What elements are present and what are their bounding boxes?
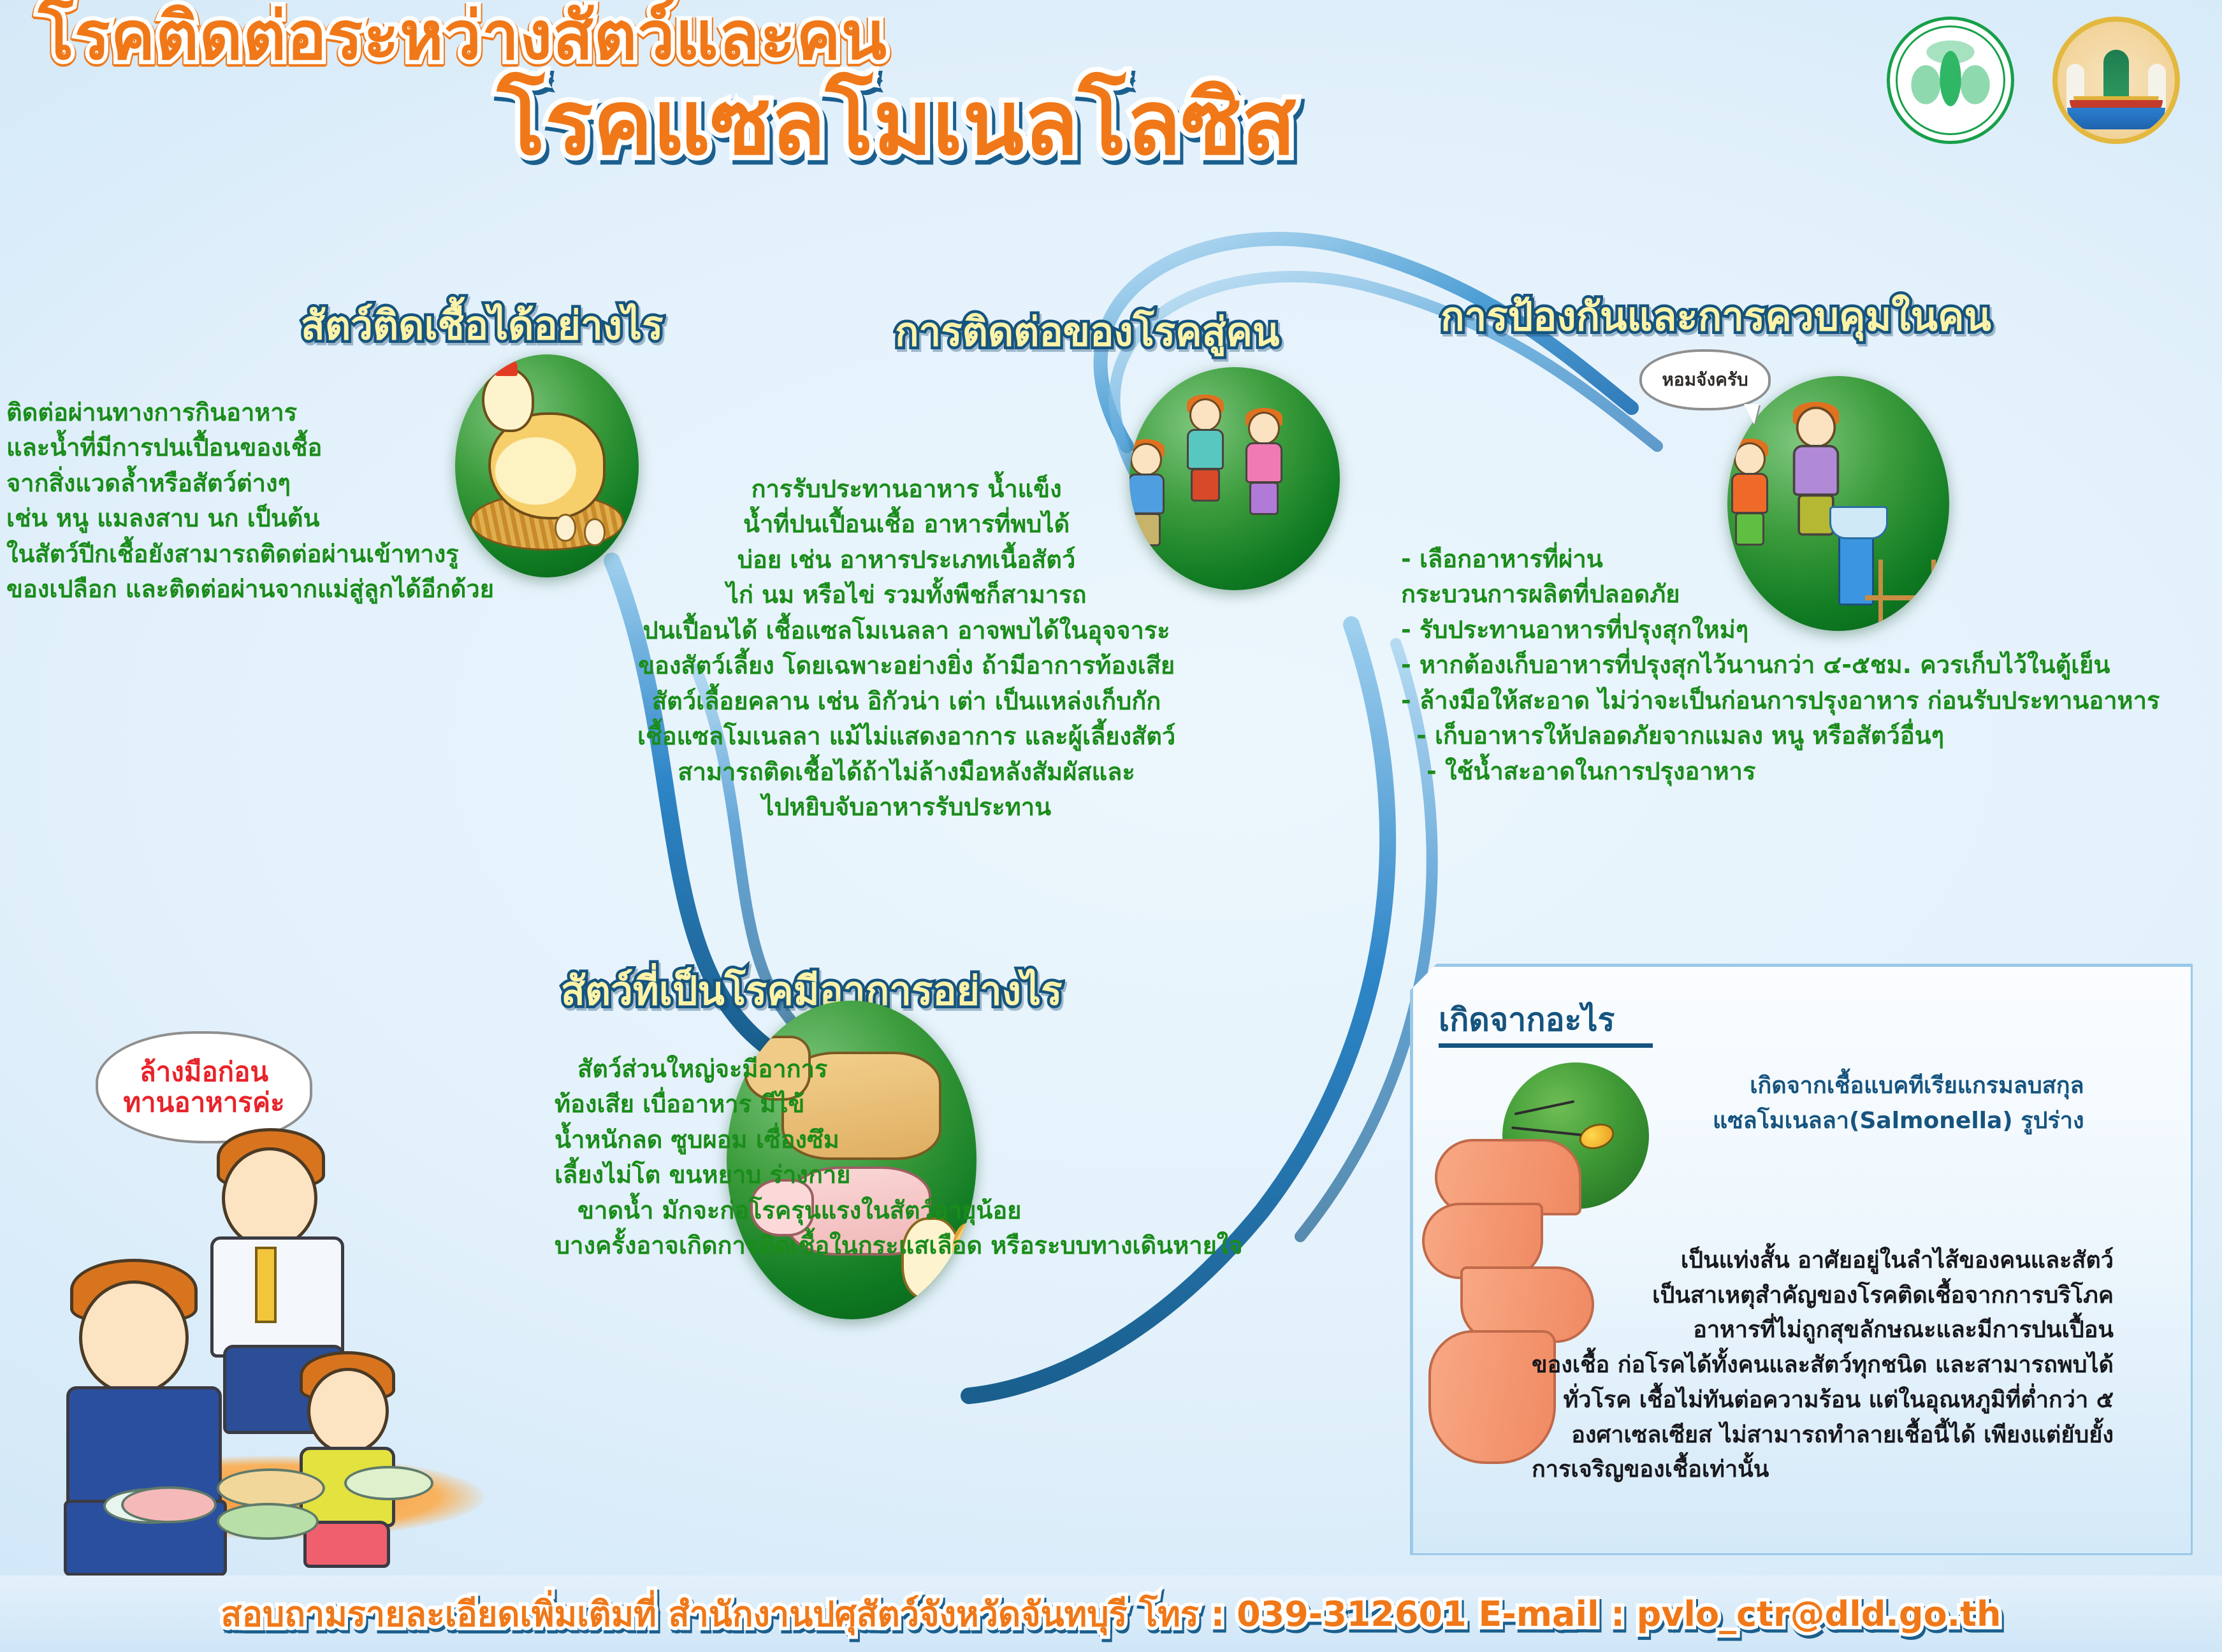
text-line: บ่อย เช่น อาหารประเภทเนื้อสัตว์ — [637, 542, 1175, 577]
speech-bubble-smells-good: หอมจังครับ — [1639, 349, 1771, 410]
text-line: ของเปลือก และติดต่อผ่านจากแม่สู่ลูกได้อี… — [6, 572, 494, 607]
food-plate-shape — [217, 1468, 325, 1508]
text-line: การรับประทานอาหาร น้ำแข็ง — [637, 472, 1175, 507]
food-plate-shape — [217, 1503, 319, 1540]
chanthaburi-province-seal-logo — [2052, 17, 2180, 144]
text-line: การเจริญของเชื้อเท่านั้น — [1532, 1453, 2114, 1488]
poster-root: โรคติดต่อระหว่างสัตว์และคน โรคแซลโมเนลโล… — [0, 0, 2222, 1652]
text-line: เป็นสาเหตุสำคัญของโรคติดเชื้อจากการบริโภ… — [1532, 1279, 2114, 1314]
text-line: น้ำหนักลด ซูบผอม เซื่องซึม — [555, 1122, 1243, 1157]
egg-shape — [555, 514, 576, 542]
text-line: เลี้ยงไม่โต ขนหยาบ ร่างกาย — [555, 1157, 1243, 1192]
text-line: ปนเปื้อนได้ เชื้อแซลโมเนลลา อาจพบได้ในอุ… — [637, 613, 1175, 648]
footer-contact-text: สอบถามรายละเอียดเพิ่มเติมที่ สำนักงานปศุ… — [221, 1586, 2001, 1641]
heading-human-transmission: การติดต่อของโรคสู่คน — [895, 301, 1279, 363]
text-line: - เก็บอาหารให้ปลอดภัยจากแมลง หนู หรือสัต… — [1401, 718, 2160, 753]
text-line: ขาดน้ำ มักจะก่อโรครุนแรงในสัตว์อายุน้อย — [555, 1193, 1243, 1228]
text-line: จากสิ่งแวดล้ำหรือสัตว์ต่างๆ — [6, 466, 494, 501]
food-plate-shape — [344, 1466, 433, 1500]
text-line: - ล้างมือให้สะอาด ไม่ว่าจะเป็นก่อนการปรุ… — [1401, 683, 2160, 718]
text-line: น้ำที่ปนเปื้อนเชื้อ อาหารที่พบได้ — [637, 507, 1175, 542]
text-line: เป็นแท่งสั้น อาศัยอยู่ในลำไส้ของคนและสัต… — [1532, 1243, 2114, 1279]
bubble-text-line: ล้างมือก่อน — [123, 1057, 284, 1087]
text-line: ติดต่อผ่านทางการกินอาหาร — [6, 395, 494, 430]
text-line: ของเชื้อ ก่อโรคได้ทั้งคนและสัตว์ทุกชนิด … — [1532, 1348, 2114, 1383]
text-line: ไปหยิบจับอาหารรับประทาน — [637, 790, 1175, 825]
text-line: อาหารที่ไม่ถูกสุขลักษณะและมีการปนเปื้อน — [1532, 1313, 2114, 1348]
egg-shape — [584, 518, 606, 546]
bubble-text-line: ทานอาหารค่ะ — [123, 1087, 284, 1118]
food-plate-shape — [121, 1486, 217, 1523]
text-line: แซลโมเนลลา(Salmonella) รูปร่าง — [1713, 1104, 2084, 1139]
page-title-line1: โรคติดต่อระหว่างสัตว์และคน — [0, 3, 1530, 69]
cooking-pot-shape — [1829, 506, 1888, 539]
text-line: สัตว์เลื้อยคลาน เช่น อิกัวน่า เต่า เป็นแ… — [637, 684, 1175, 719]
text-animal-symptoms: สัตว์ส่วนใหญ่จะมีอาการ ท้องเสีย เบื่ออาห… — [555, 1052, 1243, 1264]
family-eating-on-floor-illustration — [25, 1122, 535, 1561]
heading-prevention: การป้องกันและการควบคุมในคน — [1441, 286, 1991, 348]
text-line: - หากต้องเก็บอาหารที่ปรุงสุกไว้นานกว่า ๔… — [1401, 648, 2160, 683]
text-line: สามารถติดเชื้อได้ถ้าไม่ล้างมือหลังสัมผัส… — [637, 755, 1175, 790]
text-line: ทั่วโรค เชื้อไม่ทันต่อความร้อน แต่ในอุณห… — [1532, 1383, 2114, 1418]
text-line: - ใช้น้ำสะอาดในการปรุงอาหาร — [1401, 754, 2160, 789]
hen-shape — [488, 412, 606, 519]
cause-info-card: เกิดจากอะไร เกิดจากเชื้อแบคทีเรียแกรมลบส… — [1410, 964, 2194, 1556]
text-line: ไก่ นม หรือไข่ รวมทั้งพืชก็สามารถ — [637, 577, 1175, 612]
text-line: - เลือกอาหารที่ผ่าน — [1401, 542, 2160, 577]
logo-group — [1887, 17, 2180, 144]
footer-bar: สอบถามรายละเอียดเพิ่มเติมที่ สำนักงานปศุ… — [0, 1576, 2222, 1652]
text-line: ของสัตว์เลี้ยง โดยเฉพาะอย่างยิ่ง ถ้ามีอา… — [637, 648, 1175, 683]
heading-animal-infection: สัตว์ติดเชื้อได้อย่างไร — [301, 294, 664, 357]
card-lead-text: เกิดจากเชื้อแบคทีเรียแกรมลบสกุล แซลโมเนล… — [1713, 1069, 2084, 1138]
text-line: บางครั้งอาจเกิดการติดเชื้อในกระแสเลือด ห… — [555, 1228, 1243, 1263]
text-line: เชื้อแซลโมเนลลา แม้ไม่แสดงอาการ และผู้เล… — [637, 719, 1175, 754]
text-prevention: - เลือกอาหารที่ผ่าน กระบวนการผลิตที่ปลอด… — [1401, 542, 2160, 789]
card-body-text: เป็นแท่งสั้น อาศัยอยู่ในลำไส้ของคนและสัต… — [1532, 1177, 2114, 1488]
dld-green-seal-logo — [1887, 17, 2014, 144]
poster-title-block: โรคติดต่อระหว่างสัตว์และคน โรคแซลโมเนลโล… — [0, 3, 1530, 168]
text-line: - รับประทานอาหารที่ปรุงสุกใหม่ๆ — [1401, 612, 2160, 648]
text-line: กระบวนการผลิตที่ปลอดภัย — [1401, 577, 2160, 612]
text-line: ในสัตว์ปีกเชื้อยังสามารถติดต่อผ่านเข้าทา… — [6, 537, 494, 572]
text-line: สัตว์ส่วนใหญ่จะมีอาการ — [555, 1052, 1243, 1087]
text-line: เกิดจากเชื้อแบคทีเรียแกรมลบสกุล — [1713, 1069, 2084, 1104]
text-line: ท้องเสีย เบื่ออาหาร มีไข้ — [555, 1087, 1243, 1122]
page-title-line2: โรคแซลโมเนลโลซิส — [0, 79, 1530, 168]
card-title: เกิดจากอะไร — [1439, 995, 1615, 1045]
text-line: และน้ำที่มีการปนเปื้อนของเชื้อ — [6, 430, 494, 465]
text-human-transmission: การรับประทานอาหาร น้ำแข็ง น้ำที่ปนเปื้อน… — [637, 472, 1175, 825]
text-line: องศาเซลเซียส ไม่สามารถทำลายเชื้อนี้ได้ เ… — [1532, 1418, 2114, 1453]
card-title-underline — [1439, 1043, 1653, 1048]
text-line: เช่น หนู แมลงสาบ นก เป็นต้น — [6, 501, 494, 536]
text-animal-infection: ติดต่อผ่านทางการกินอาหาร และน้ำที่มีการป… — [6, 395, 494, 607]
